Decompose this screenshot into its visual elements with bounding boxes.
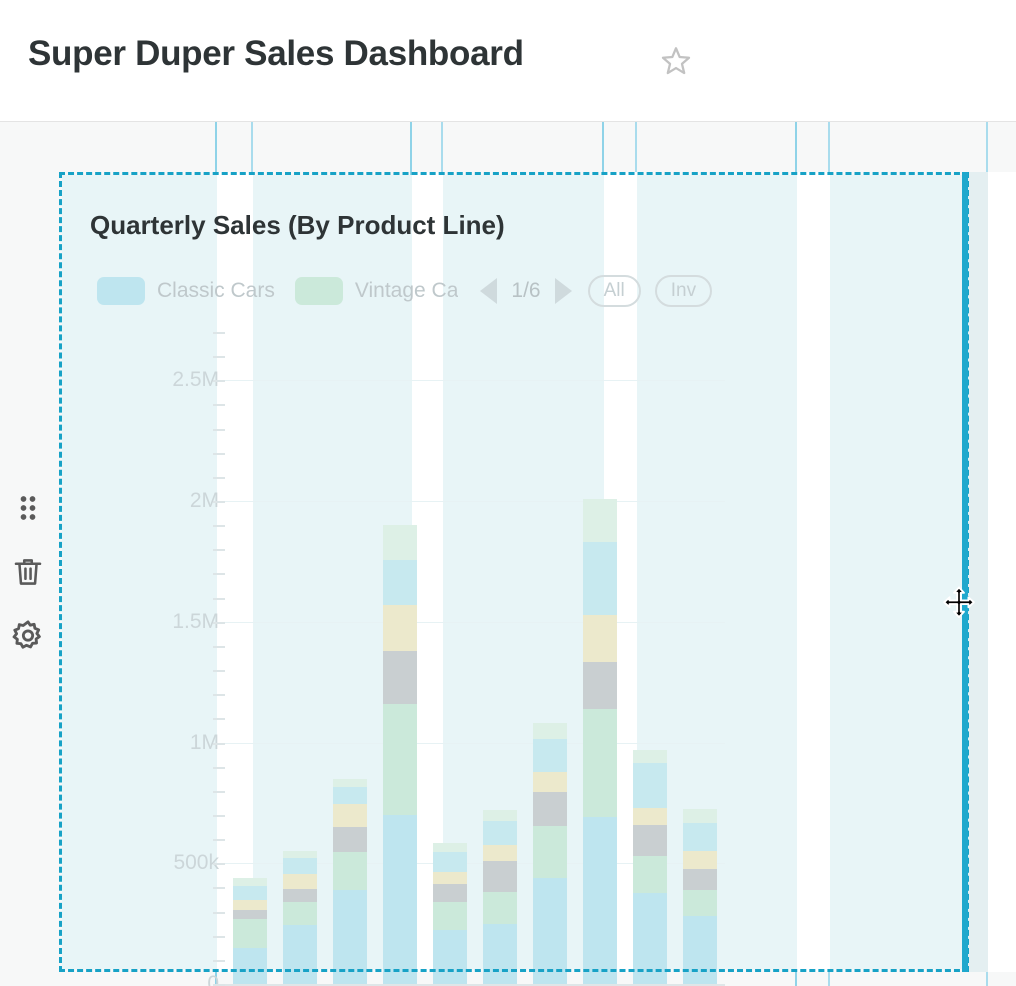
page-counter: 1/6 — [511, 279, 540, 303]
legend-swatch — [295, 277, 343, 305]
triangle-left-icon[interactable] — [480, 278, 497, 304]
trash-icon[interactable] — [10, 554, 46, 590]
grid-gap — [988, 172, 1016, 972]
dashboard-canvas[interactable]: Quarterly Sales (By Product Line) Classi… — [0, 122, 1016, 986]
star-outline-icon[interactable] — [659, 44, 693, 78]
move-cursor-icon — [941, 585, 977, 621]
legend-swatch — [97, 277, 145, 305]
legend-label: Vintage Ca — [355, 279, 459, 303]
chart-legend-bar: Classic Cars Vintage Ca 1/6 All Inv — [97, 274, 712, 308]
chart-header: Quarterly Sales (By Product Line) — [90, 210, 505, 241]
widget-resize-handle[interactable] — [962, 172, 968, 972]
app-header: Super Duper Sales Dashboard — [0, 0, 1016, 122]
triangle-right-icon[interactable] — [555, 278, 572, 304]
select-all-button[interactable]: All — [588, 275, 641, 307]
chart-title: Quarterly Sales (By Product Line) — [90, 210, 505, 241]
legend-label: Classic Cars — [157, 279, 275, 303]
legend-item-classic-cars[interactable]: Classic Cars — [97, 277, 275, 305]
invert-selection-button[interactable]: Inv — [655, 275, 712, 307]
gear-icon[interactable] — [10, 618, 46, 654]
grid-column-right — [968, 172, 988, 972]
legend-item-vintage-cars[interactable]: Vintage Ca — [295, 277, 459, 305]
drag-handle-icon[interactable] — [10, 490, 46, 526]
page-title: Super Duper Sales Dashboard — [28, 34, 524, 74]
widget-tool-rail — [0, 122, 58, 986]
